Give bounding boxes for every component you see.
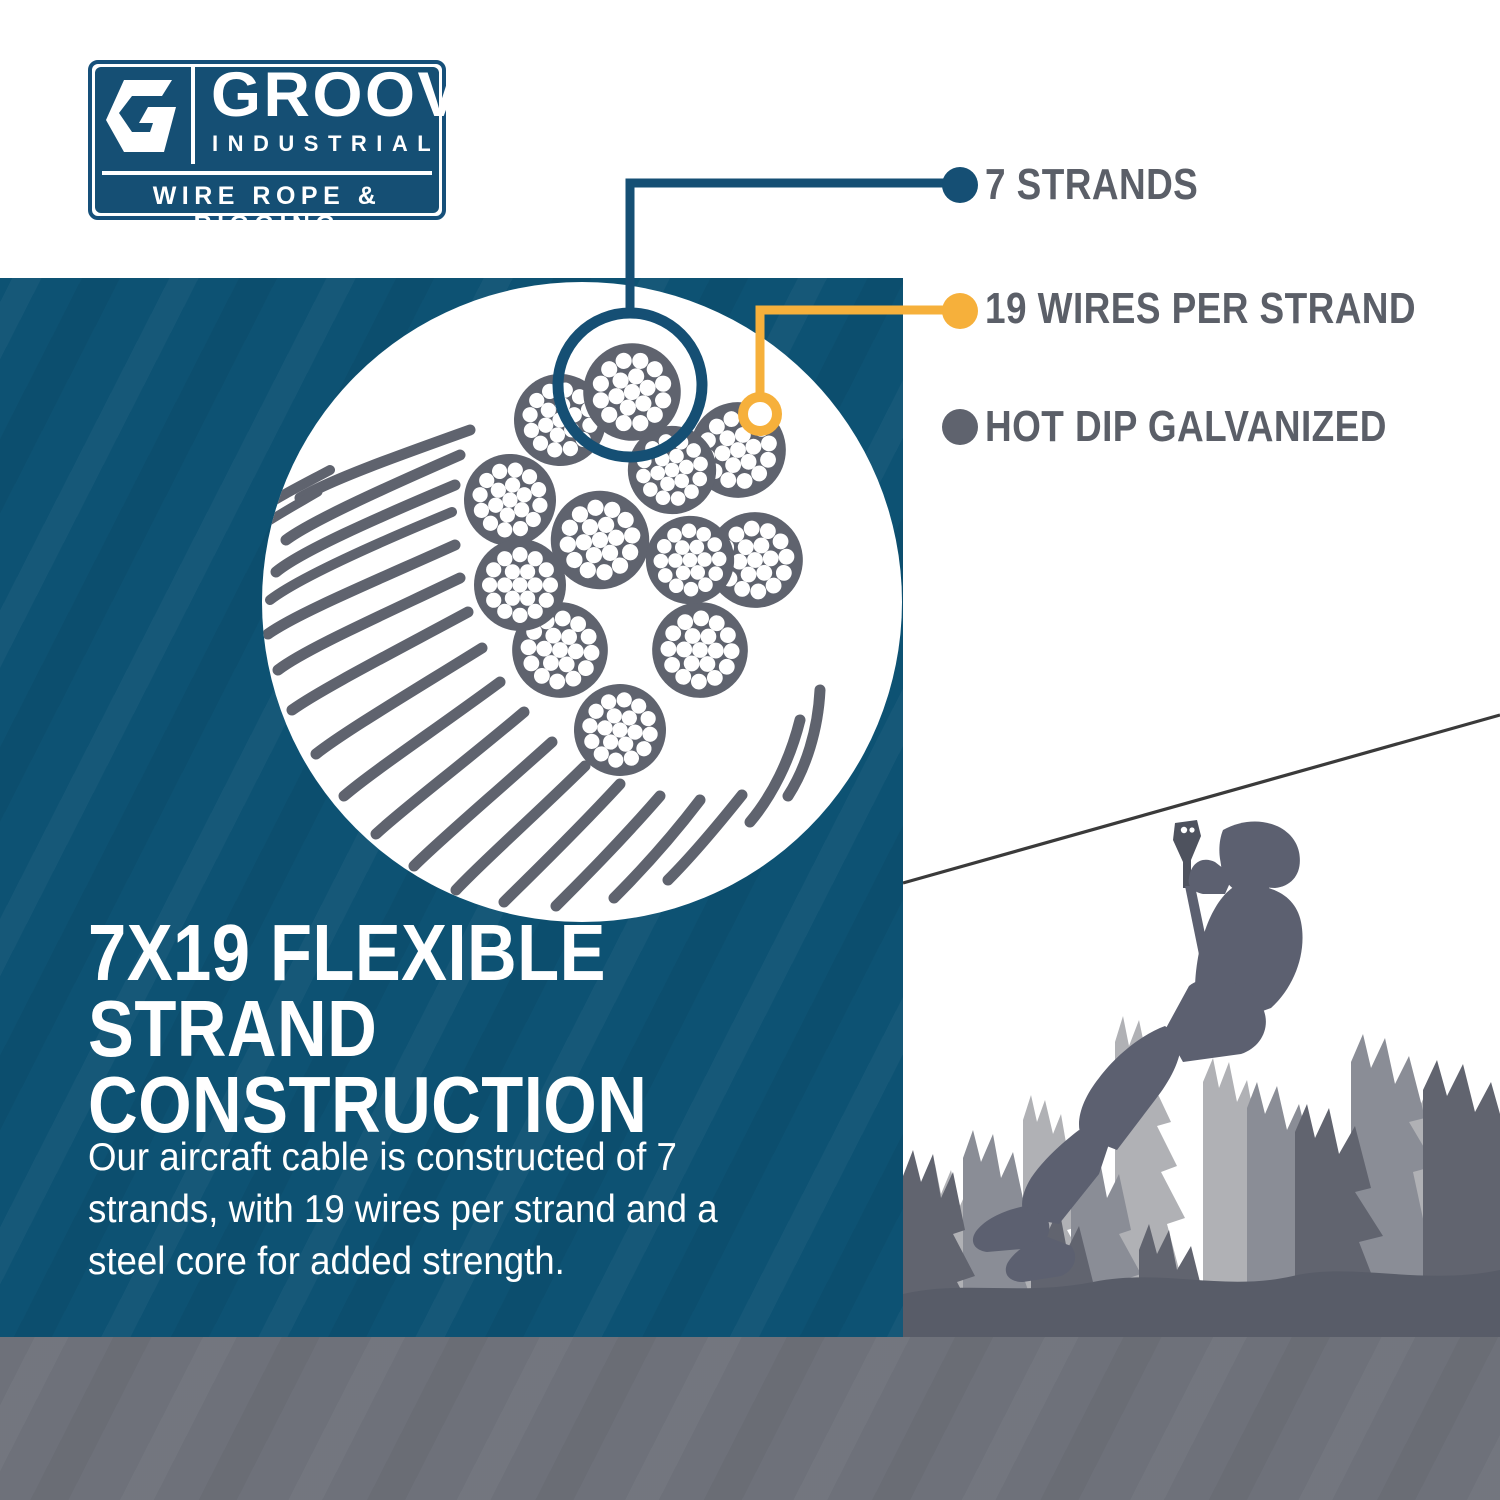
zipline-photo [903, 690, 1500, 1340]
logo-wordmark-box: GROOVE INDUSTRIAL [195, 67, 439, 164]
page-title: 7X19 FLEXIBLE STRAND CONSTRUCTION [88, 915, 767, 1143]
logo-divider [102, 171, 432, 175]
infographic-canvas: GROOVE INDUSTRIAL WIRE ROPE & RIGGING [0, 0, 1500, 1500]
brand-logo: GROOVE INDUSTRIAL WIRE ROPE & RIGGING [88, 60, 446, 220]
bottom-gray-band [0, 1337, 1500, 1500]
band-wave-texture [0, 1337, 1500, 1500]
callout-label-galvanized: HOT DIP GALVANIZED [985, 405, 1387, 449]
logo-wordmark: GROOVE [211, 64, 508, 127]
rope-spotlight-circle [262, 282, 902, 922]
logo-monogram-box [95, 67, 195, 164]
callout-dot-galvanized [942, 409, 978, 445]
callout-label-strands: 7 STRANDS [985, 163, 1198, 207]
logo-tagline: WIRE ROPE & RIGGING [88, 182, 446, 240]
logo-top-band: GROOVE INDUSTRIAL [95, 67, 439, 164]
body-paragraph: Our aircraft cable is constructed of 7 s… [88, 1132, 746, 1288]
callout-dot-wires [942, 293, 978, 329]
logo-subwordmark: INDUSTRIAL [212, 133, 440, 155]
callout-dot-strands [942, 167, 978, 203]
zipline-scene [903, 690, 1500, 1340]
groove-g-icon [106, 80, 180, 152]
callout-label-wires: 19 WIRES PER STRAND [985, 287, 1416, 331]
